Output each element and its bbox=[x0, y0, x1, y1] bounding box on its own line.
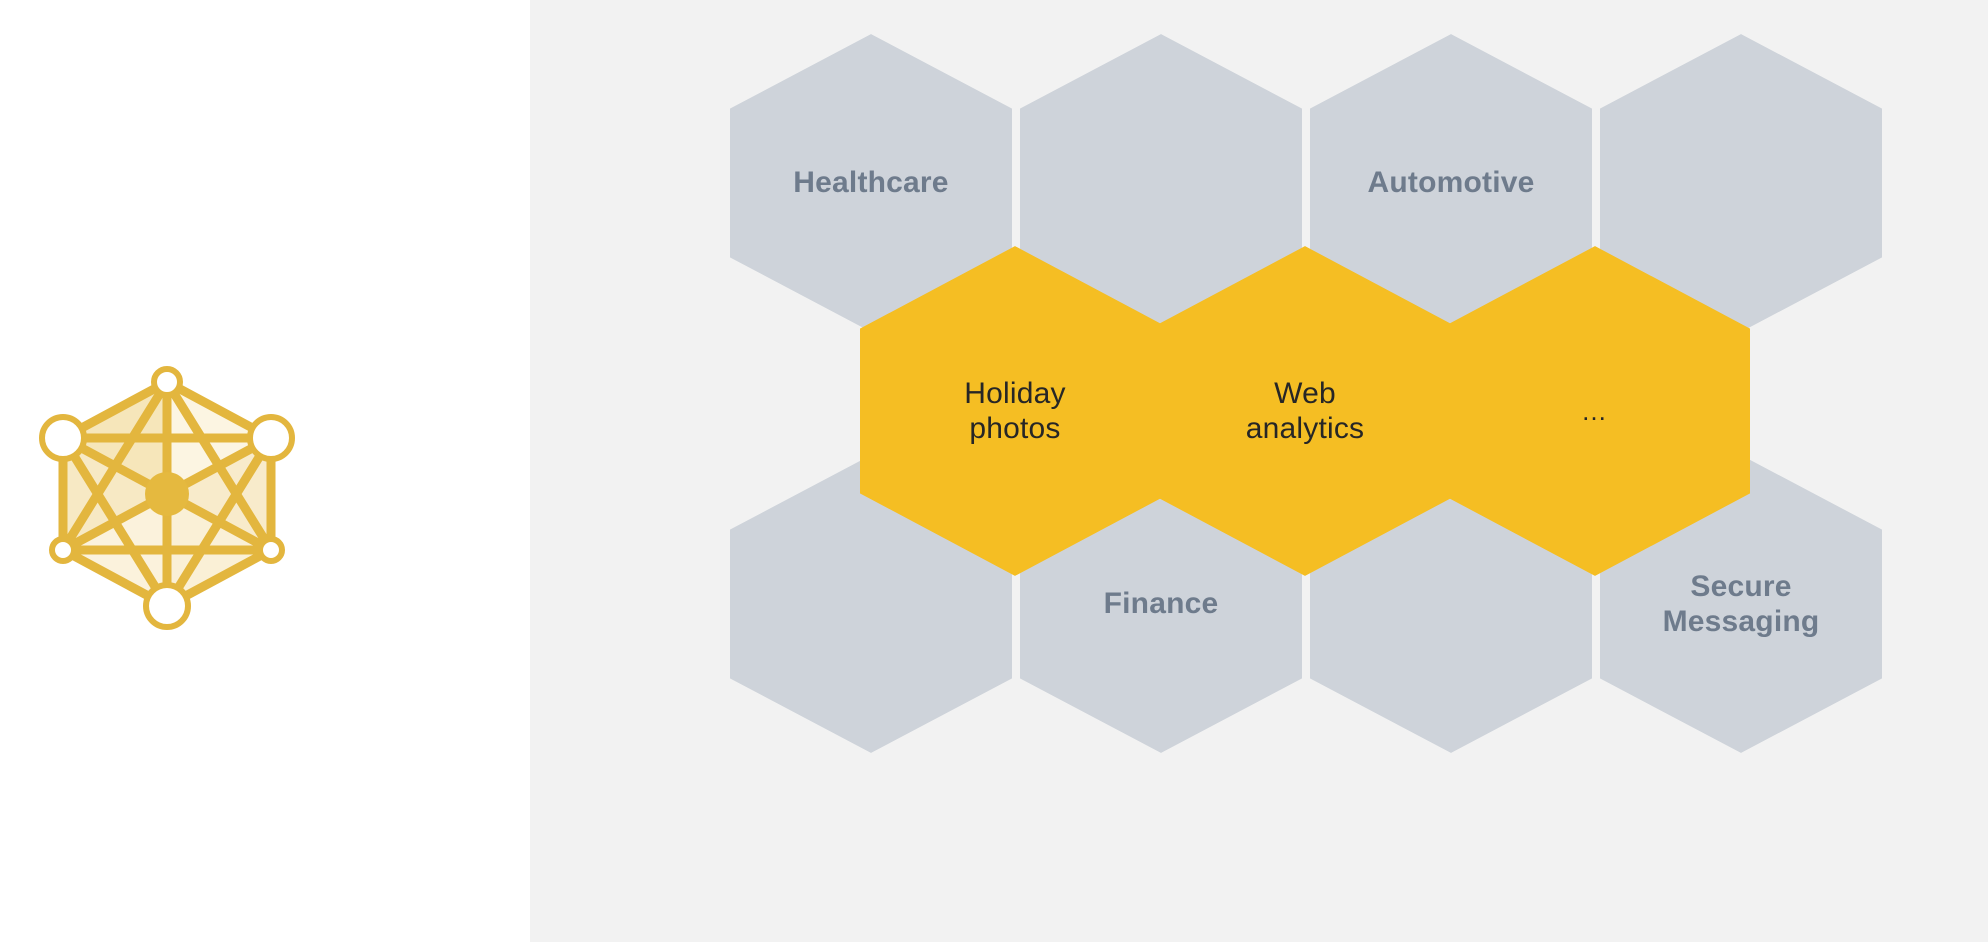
logo-panel bbox=[0, 0, 530, 942]
honeycomb-panel: Healthcare Automotive Holiday photos Web bbox=[530, 0, 1988, 942]
hexagon-network-logo-icon bbox=[20, 350, 320, 640]
diagram-canvas: Healthcare Automotive Holiday photos Web bbox=[0, 0, 1988, 942]
